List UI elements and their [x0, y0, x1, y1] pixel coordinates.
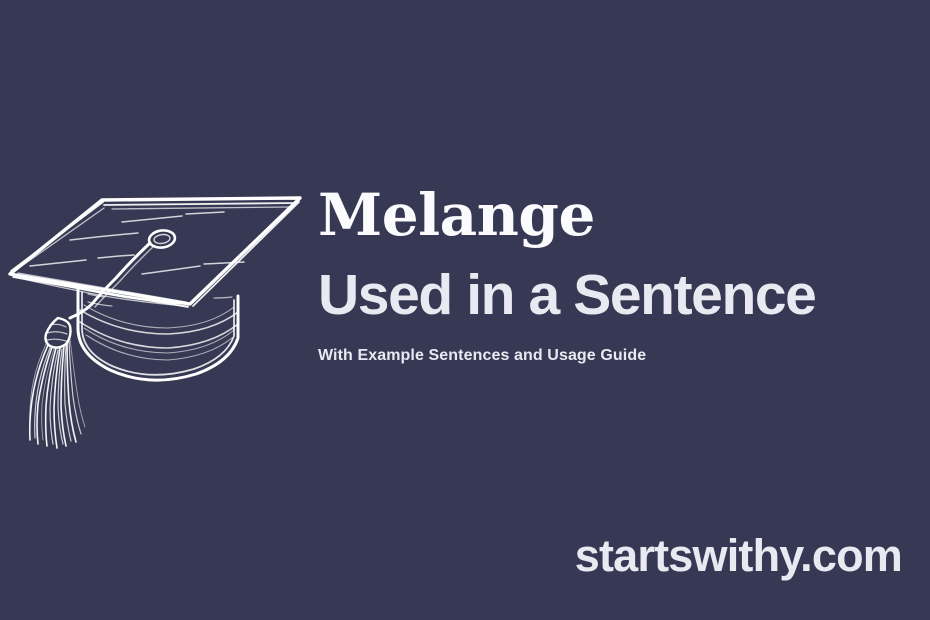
graduation-cap-icon — [0, 178, 310, 458]
headline: Used in a Sentence — [318, 266, 918, 325]
tagline: With Example Sentences and Usage Guide — [318, 347, 918, 365]
brand-wordmark: startswithy.com — [575, 530, 902, 582]
page-title: Melange — [318, 186, 918, 244]
hero-text-block: Melange Used in a Sentence With Example … — [318, 186, 918, 365]
promo-card: Melange Used in a Sentence With Example … — [0, 0, 930, 620]
